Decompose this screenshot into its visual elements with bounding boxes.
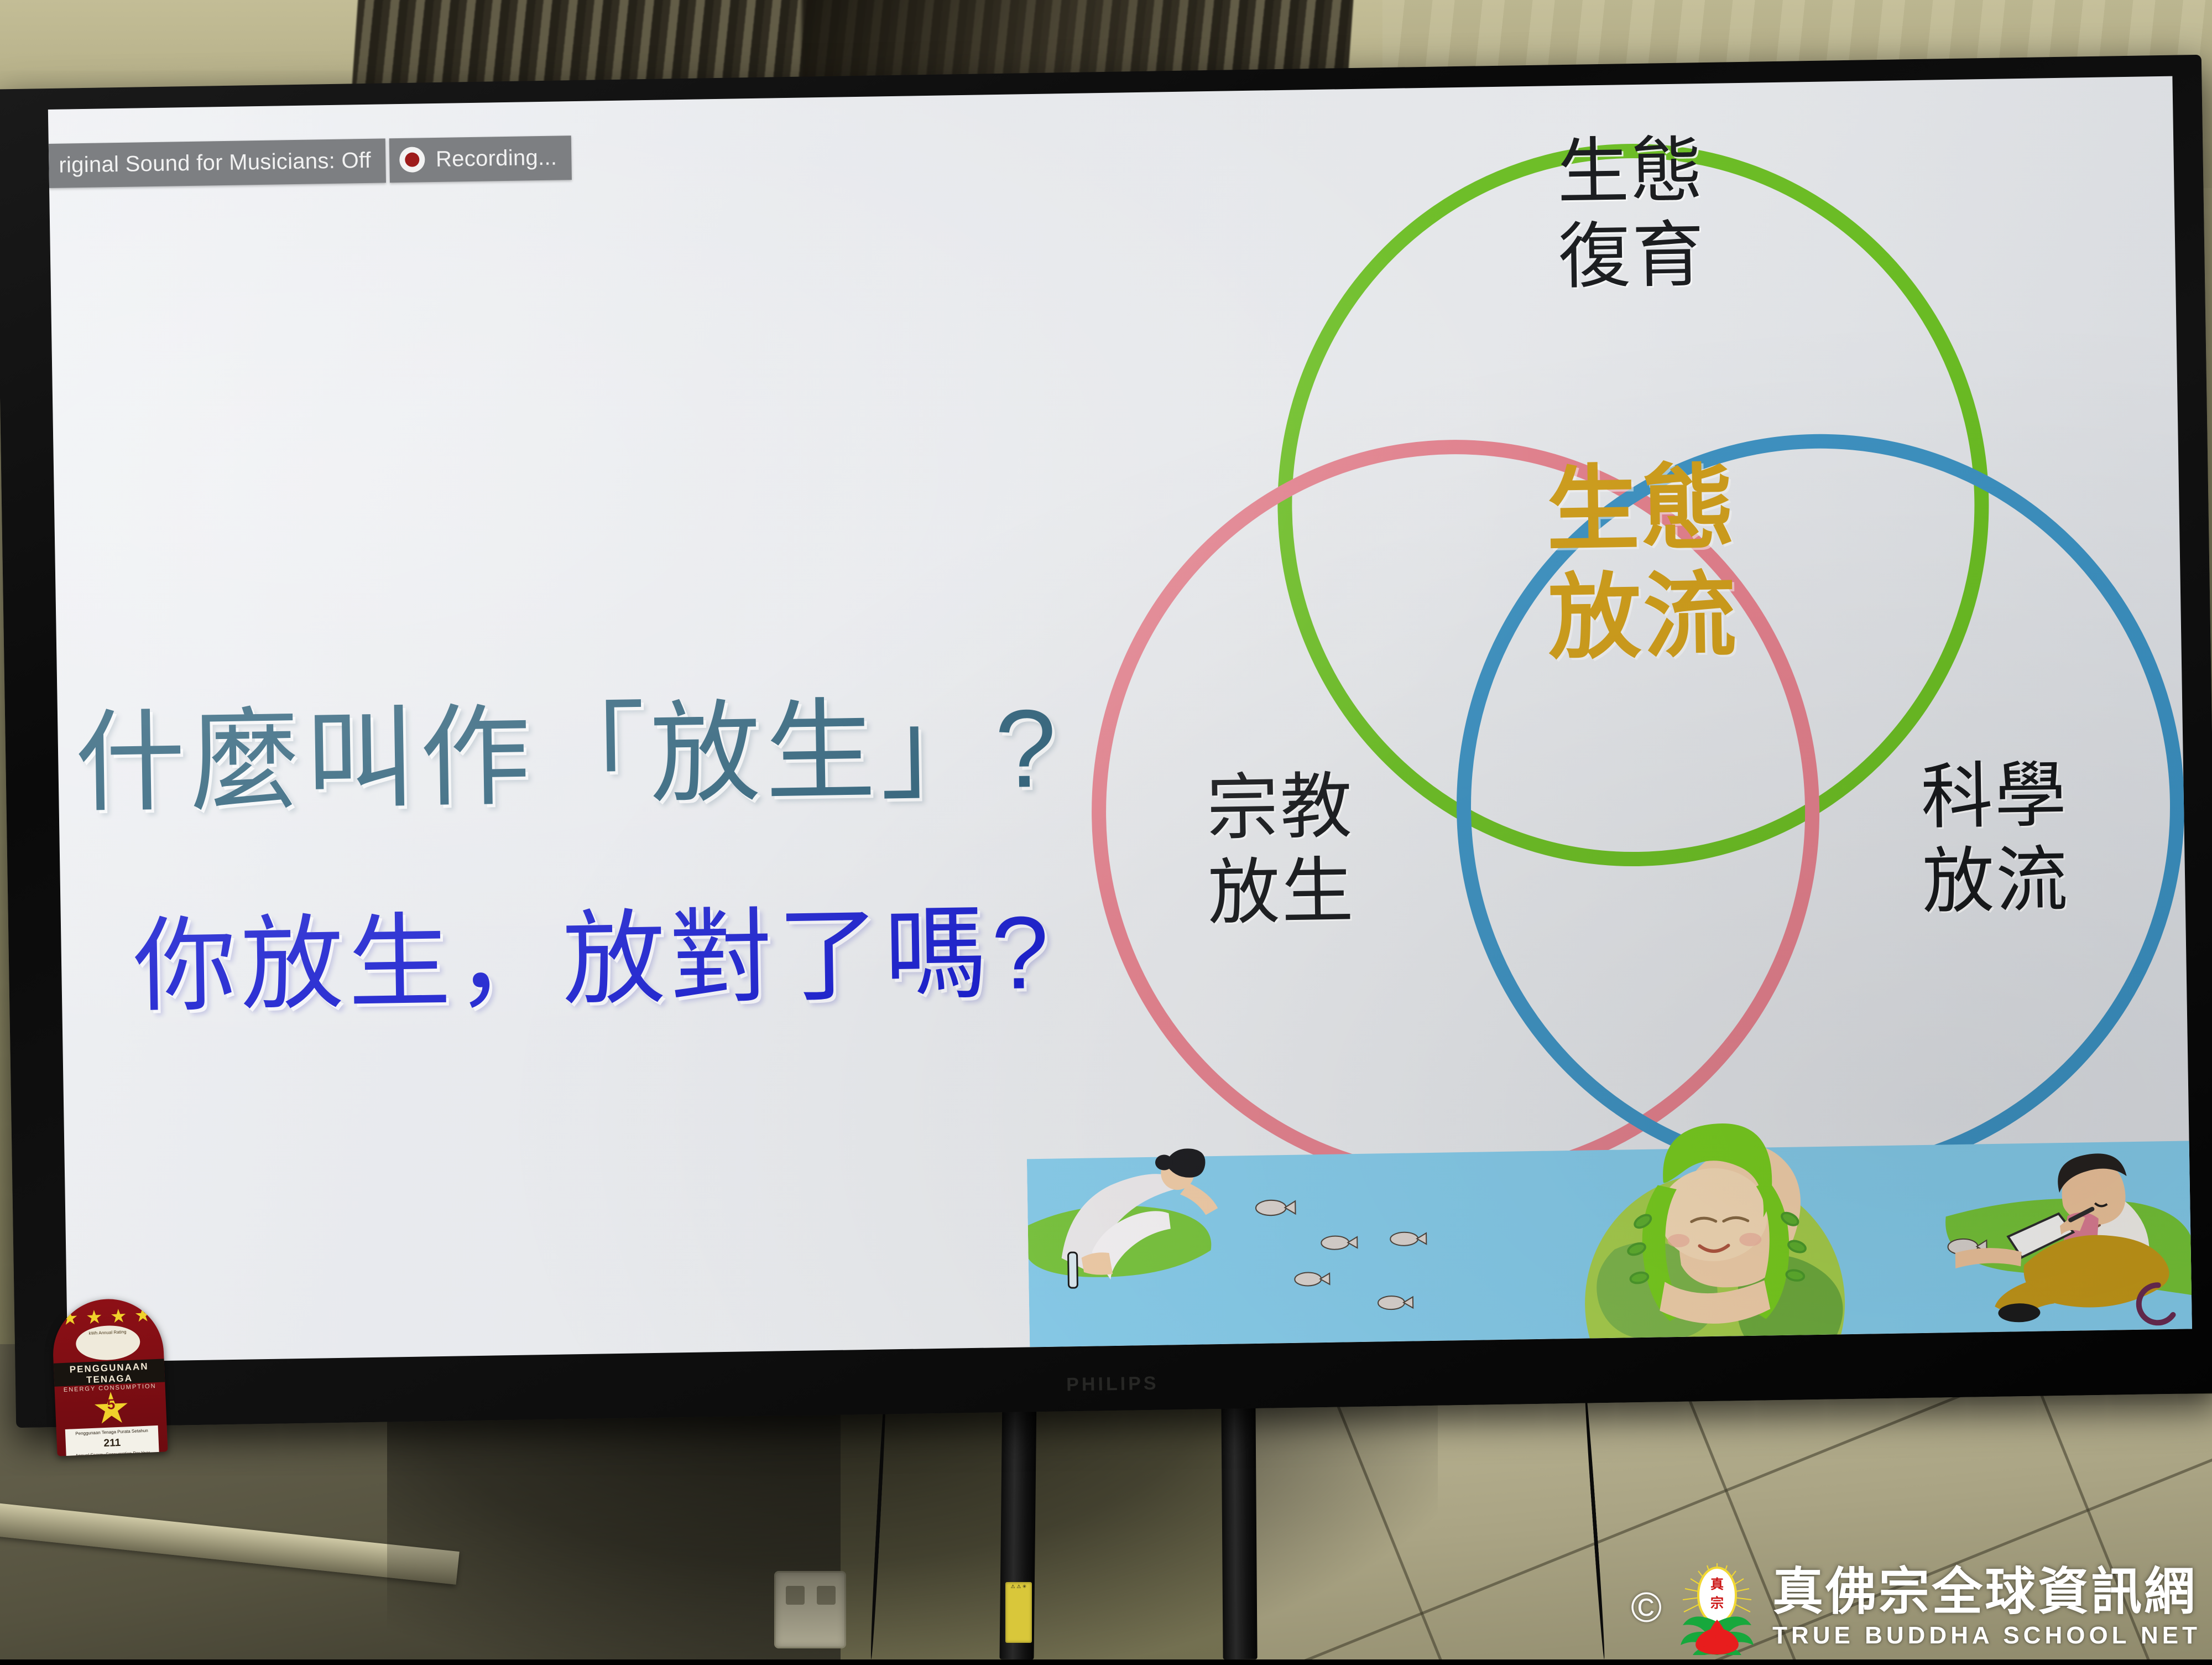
- watermark-text: 真佛宗全球資訊網 TRUE BUDDHA SCHOOL NET: [1772, 1567, 2201, 1650]
- slide-question-secondary: 你放生，放對了嗎?: [132, 868, 1054, 1032]
- svg-text:宗: 宗: [1710, 1595, 1724, 1611]
- venn-label-religion: 宗教放生: [1169, 763, 1393, 936]
- energy-big-star-icon: ★ 5: [89, 1387, 134, 1429]
- energy-rating-sticker: ★ ★ ★ ★ ★ kWh Annual Rating PENGGUNAAN T…: [51, 1297, 168, 1456]
- watermark: © 真 宗: [1631, 1561, 2201, 1655]
- watermark-chinese: 真佛宗全球資訊網: [1772, 1567, 2197, 1617]
- original-sound-label: riginal Sound for Musicians: Off: [59, 148, 371, 178]
- energy-detail-box: Penggunaan Tenaga Purata Setahun 211 Ann…: [65, 1425, 160, 1456]
- zoom-toolbar[interactable]: riginal Sound for Musicians: Off Recordi…: [49, 136, 572, 188]
- energy-band: PENGGUNAAN TENAGA ENERGY CONSUMPTION: [54, 1359, 165, 1386]
- energy-title-ms: PENGGUNAAN TENAGA: [69, 1361, 148, 1386]
- energy-consumption-value: 211: [67, 1435, 157, 1452]
- television: PHILIPS riginal Sound for Musicians: Off…: [0, 55, 2212, 1428]
- svg-text:真: 真: [1710, 1576, 1724, 1592]
- copyright-icon: ©: [1631, 1587, 1662, 1629]
- energy-star-rating: 5: [89, 1397, 133, 1412]
- slide-question-primary: 什麼叫作「放生」?: [74, 658, 1062, 834]
- recording-label: Recording...: [436, 145, 557, 171]
- record-dot-icon: [399, 147, 425, 173]
- venn-label-ecology: 生態復育: [1520, 127, 1744, 300]
- venn-label-intersection: 生態放流: [1497, 453, 1788, 673]
- warning-sticker-icon: ⚠ ⚠ ✳: [1005, 1582, 1032, 1643]
- watermark-english: TRUE BUDDHA SCHOOL NET: [1772, 1622, 2201, 1650]
- venn-label-science: 科學放流: [1884, 752, 2107, 925]
- slide-illustration: [1026, 1074, 2192, 1347]
- tv-screen: riginal Sound for Musicians: Off Recordi…: [48, 76, 2192, 1362]
- recording-status[interactable]: Recording...: [389, 136, 571, 183]
- energy-detail-ms: Penggunaan Tenaga Purata Setahun: [75, 1428, 148, 1437]
- original-sound-status[interactable]: riginal Sound for Musicians: Off: [49, 138, 386, 188]
- brand-logo: PHILIPS: [1066, 1373, 1159, 1396]
- lotus-emblem-icon: 真 宗: [1673, 1561, 1761, 1655]
- tv-stand-leg-right: [1221, 1399, 1257, 1659]
